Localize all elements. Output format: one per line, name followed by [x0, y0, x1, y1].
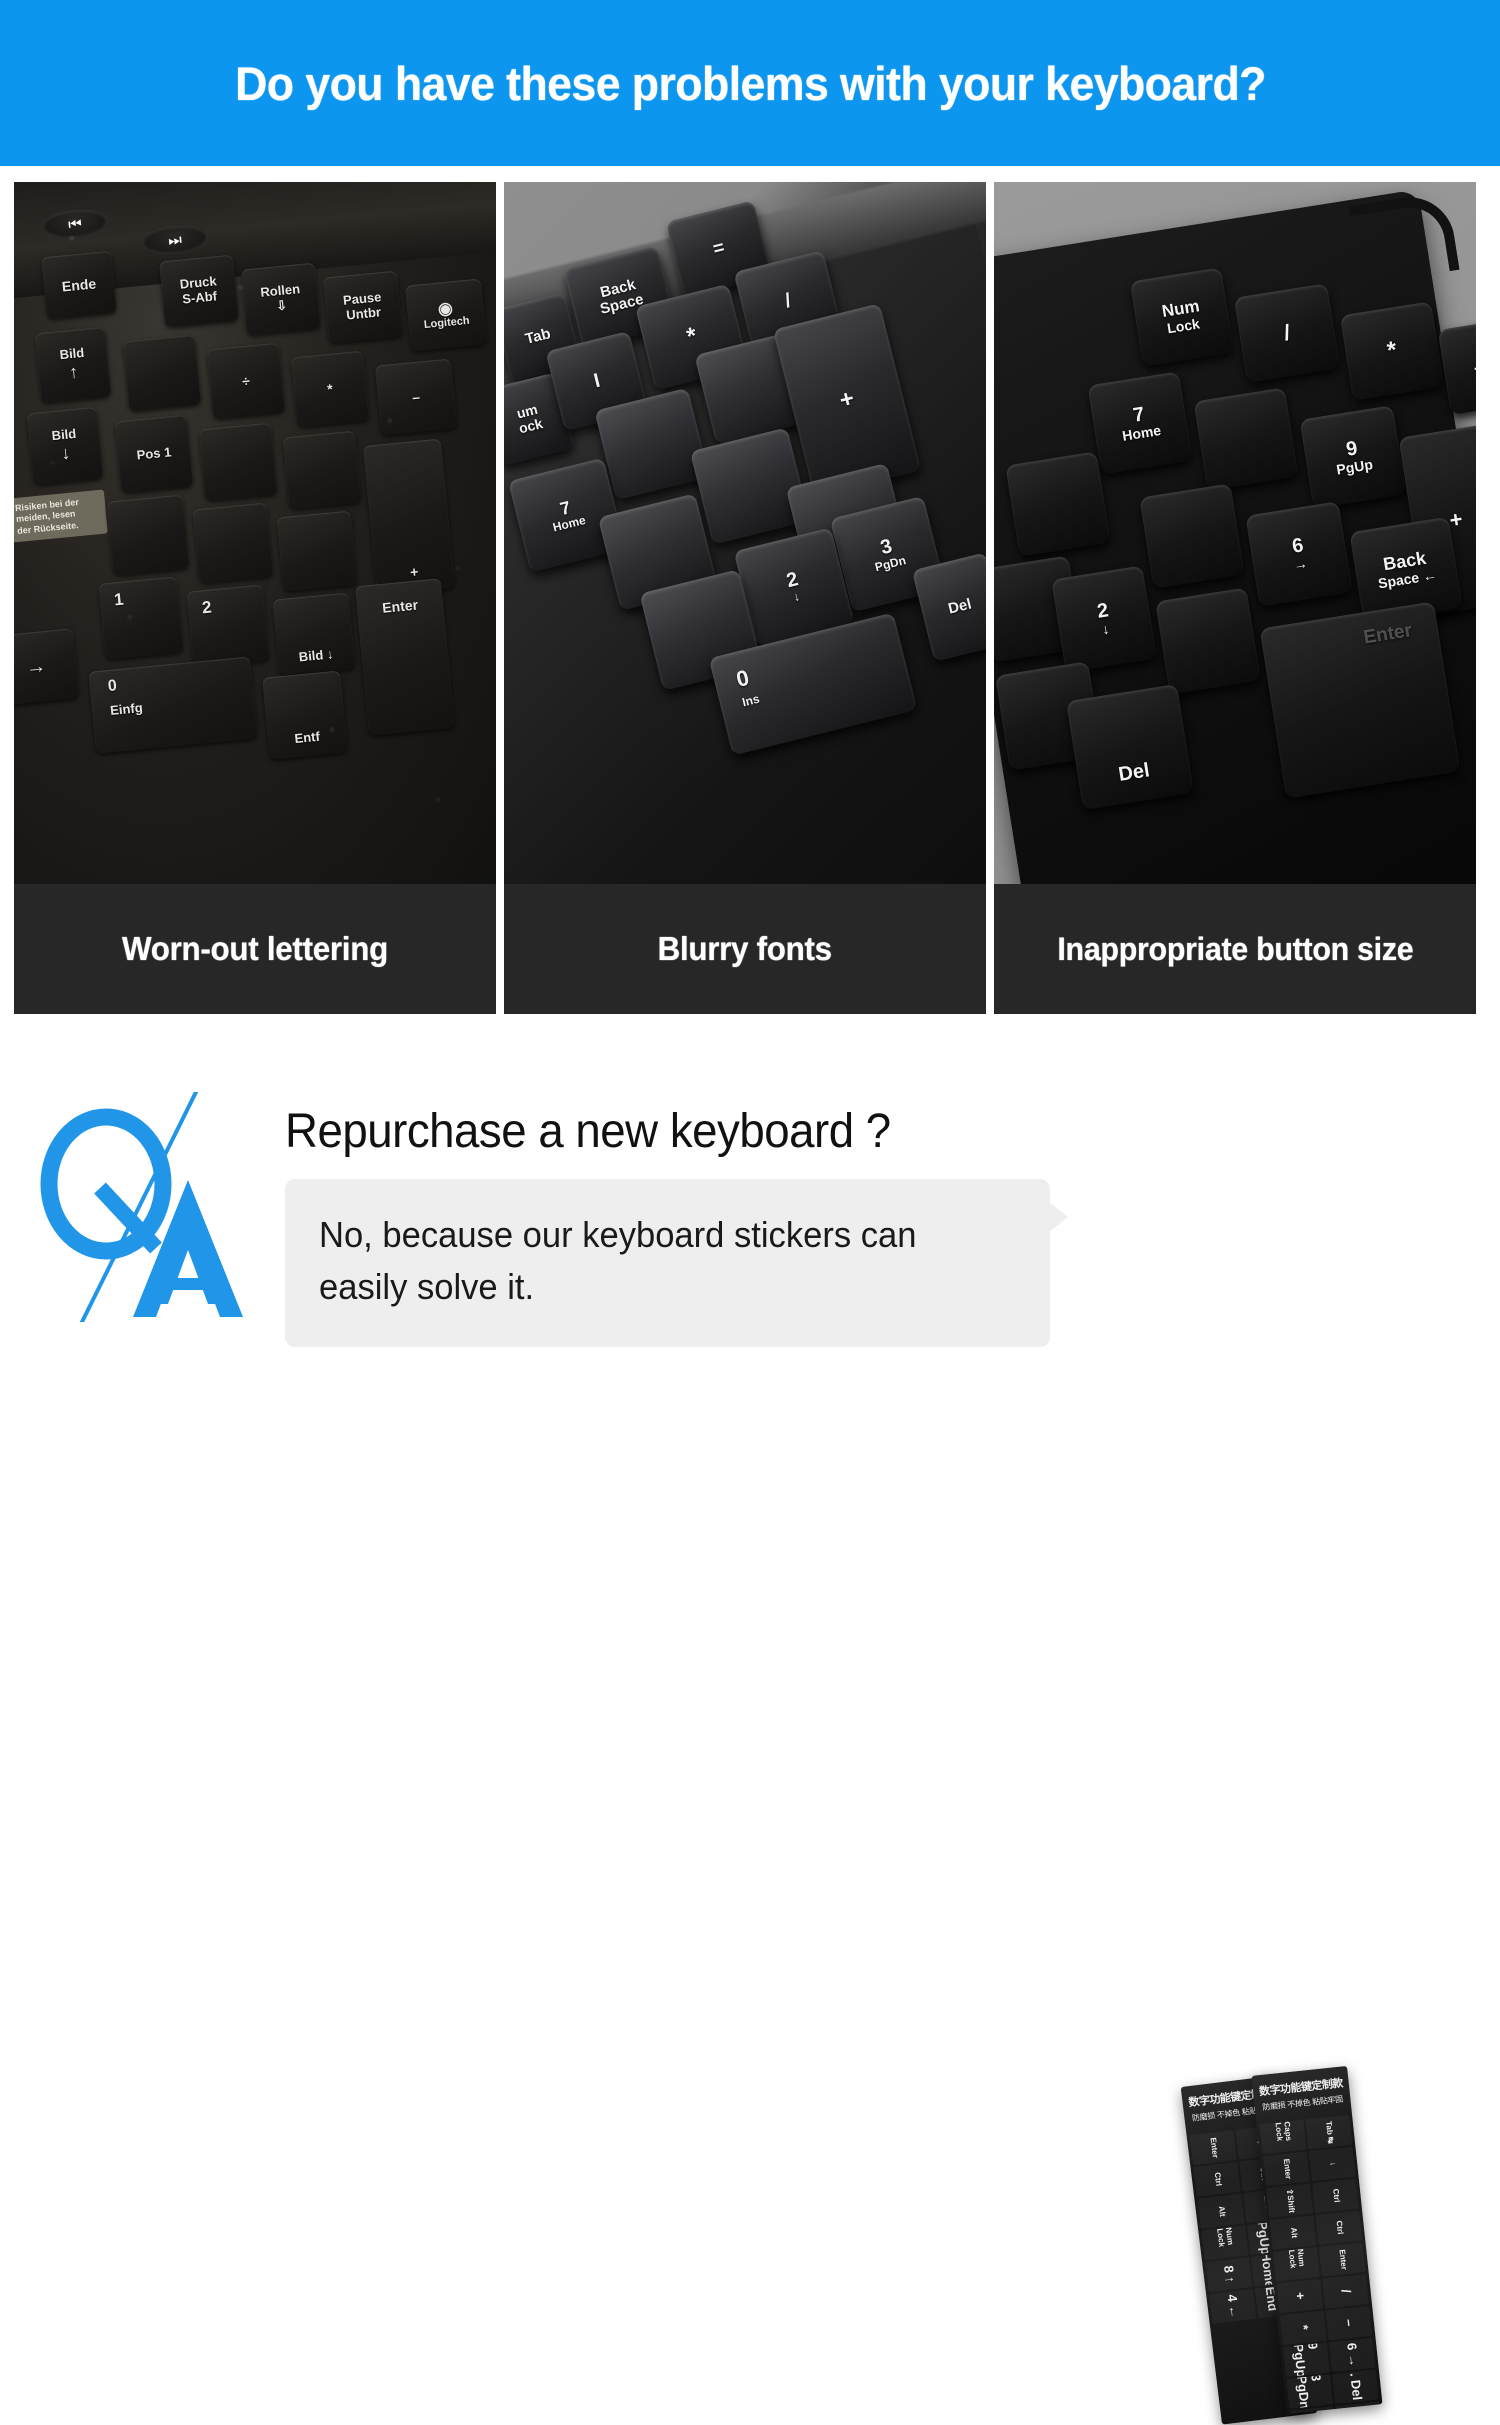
sticker-key: Alt — [1197, 2194, 1244, 2229]
sticker-key: Enter — [1319, 2242, 1366, 2276]
panel-caption-label: Blurry fonts — [658, 930, 832, 968]
sticker-key: 8 ↑ — [1205, 2257, 1252, 2292]
key-seven-home: 7Home — [1088, 371, 1193, 474]
caption-bar-2: Blurry fonts — [504, 884, 986, 1014]
qa-answer-text: No, because our keyboard stickers can ea… — [319, 1209, 988, 1313]
sticker-key: Ctrl — [1193, 2162, 1240, 2197]
sticker-key: Alt — [1270, 2215, 1317, 2249]
qa-logo-letter-q — [49, 1117, 163, 1251]
key-nine-pgup: 9PgUp — [1300, 405, 1407, 509]
qa-answer-bubble: No, because our keyboard stickers can ea… — [285, 1179, 1050, 1347]
problem-panel-blurry-fonts: Tab BackSpace = / umock I * + 7Home 3PgD… — [504, 182, 986, 1014]
sticker-key: ⇧Shift — [1266, 2183, 1313, 2217]
photo-blurry-font-keyboard: Tab BackSpace = / umock I * + 7Home 3PgD… — [504, 182, 986, 884]
problem-panels: ⏮ ⏭ Ende DruckS-Abf Rollen⇩ PauseUntbr ◉… — [14, 182, 1486, 1014]
key-four — [1005, 451, 1110, 556]
key-eight — [1194, 387, 1299, 490]
key-five — [1139, 483, 1244, 588]
page-title: Do you have these problems with your key… — [235, 56, 1266, 111]
key-slash: / — [1234, 283, 1340, 383]
panel-caption-label: Worn-out lettering — [122, 930, 388, 968]
sticker-key: 9 PgUp — [1283, 2343, 1330, 2377]
key-numlock: NumLock — [1130, 267, 1234, 366]
sticker-key: Ctrl — [1312, 2179, 1359, 2213]
sticker-key: * — [1280, 2311, 1327, 2345]
sticker-key: / — [1322, 2274, 1369, 2308]
photo-oversized-key-keypad: NumLock / * – 7Home 9PgUp + 6→ BackSpace… — [994, 182, 1476, 884]
sticker-sheets: 数字功能键定制款 防磨损 不掉色 粘贴牢固 Enter ↓ Ctrl Ctrl … — [1195, 2058, 1455, 2418]
header-banner: Do you have these problems with your key… — [0, 0, 1500, 166]
sticker-key: Caps Lock — [1260, 2120, 1307, 2154]
sticker-key: 3 PgDn — [1286, 2374, 1333, 2408]
panel-caption-label: Inappropriate button size — [1057, 931, 1413, 968]
qa-question: Repurchase a new keyboard ? — [285, 1104, 1007, 1159]
sticker-header-front: 数字功能键定制款 防磨损 不掉色 粘贴牢固 — [1251, 2066, 1351, 2118]
caption-bar-3: Inappropriate button size — [994, 884, 1476, 1014]
sticker-key: Enter — [1190, 2130, 1237, 2165]
sticker-key: 6 → — [1329, 2338, 1376, 2372]
sticker-key: . Del — [1332, 2370, 1379, 2404]
qa-logo — [38, 1092, 254, 1322]
photo-worn-out-keyboard: ⏮ ⏭ Ende DruckS-Abf Rollen⇩ PauseUntbr ◉… — [14, 182, 496, 884]
sticker-key: Tab ↹ — [1305, 2115, 1352, 2149]
key-del: Del — [1066, 684, 1194, 810]
sticker-key: + — [1276, 2279, 1323, 2313]
problem-panel-worn-out-lettering: ⏮ ⏭ Ende DruckS-Abf Rollen⇩ PauseUntbr ◉… — [14, 182, 496, 1014]
sticker-key: – — [1325, 2306, 1372, 2340]
usb-cable — [1348, 191, 1459, 286]
key-three — [1155, 587, 1261, 694]
key-two-down: 2↓ — [1051, 565, 1157, 672]
qa-section: Repurchase a new keyboard ? No, because … — [0, 1030, 1500, 1409]
sticker-key: Num Lock — [1273, 2247, 1320, 2281]
key-six-right: 6→ — [1245, 501, 1352, 607]
sticker-key: 5 — [1335, 2401, 1382, 2414]
sticker-key: Num Lock — [1201, 2225, 1248, 2260]
qa-content: Repurchase a new keyboard ? No, because … — [285, 1104, 1045, 1347]
caption-bar-1: Worn-out lettering — [14, 884, 496, 1014]
sticker-key: Ctrl — [1315, 2210, 1362, 2244]
key-asterisk: * — [1340, 301, 1444, 400]
sticker-key: 4 ← — [1209, 2289, 1256, 2324]
problem-panel-inappropriate-button-size: NumLock / * – 7Home 9PgUp + 6→ BackSpace… — [994, 182, 1476, 1014]
sticker-key: Enter — [1263, 2152, 1310, 2186]
key-enter: Enter — [1260, 601, 1461, 798]
sticker-key: ↓ — [1309, 2147, 1356, 2181]
